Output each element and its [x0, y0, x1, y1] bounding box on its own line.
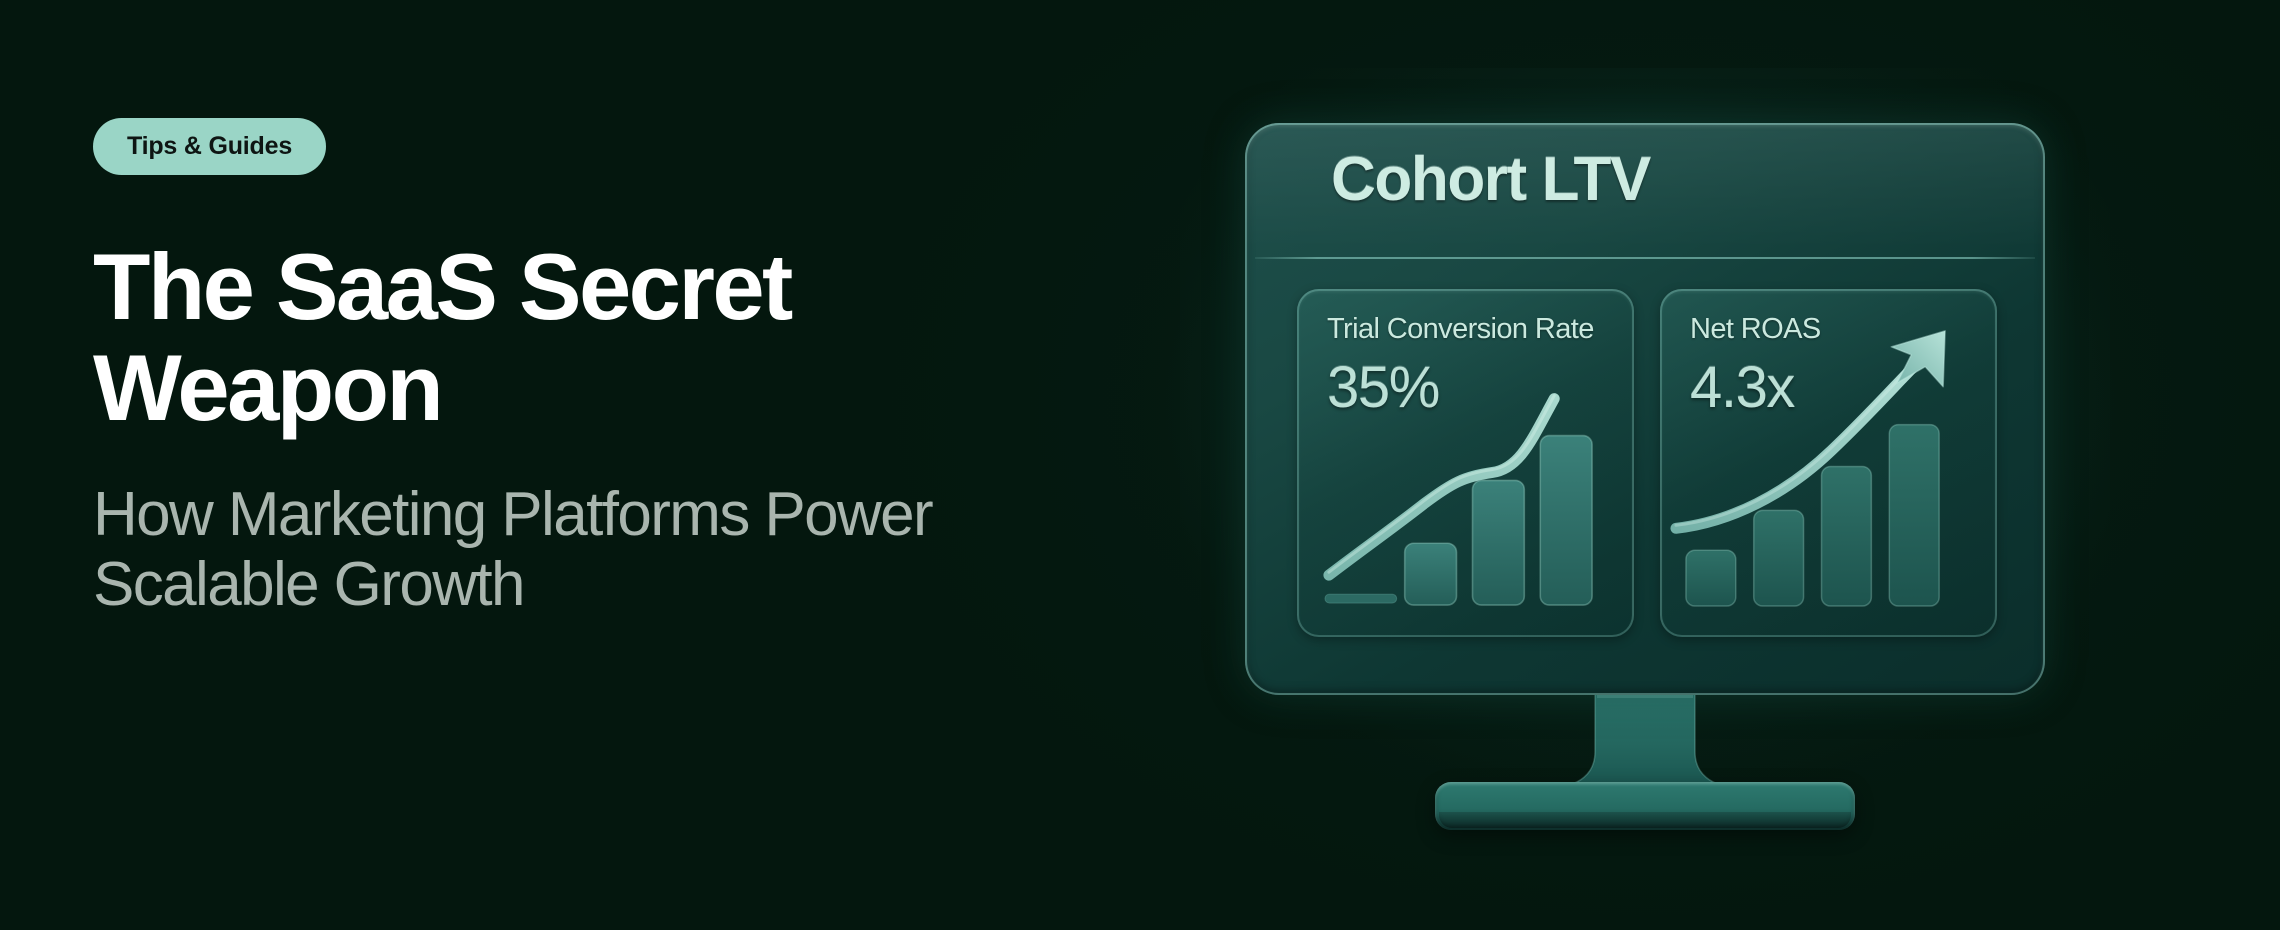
page-subtitle: How Marketing Platforms Power Scalable G…: [93, 438, 973, 620]
dashboard-divider: [1255, 257, 2035, 259]
baseline-tick: [1325, 594, 1397, 603]
trial-conversion-chart: [1297, 289, 1634, 636]
metric-card-list: Trial Conversion Rate 35%: [1297, 289, 1997, 637]
monitor-screen: Cohort LTV Trial Conversion Rate 35%: [1245, 123, 2045, 695]
hero-banner: Tips & Guides The SaaS Secret Weapon How…: [0, 0, 2280, 930]
bar-1: [1686, 550, 1736, 606]
stand-neck-shape: [1525, 690, 1765, 790]
bar-2: [1472, 480, 1524, 605]
metric-card-trial-conversion-rate[interactable]: Trial Conversion Rate 35%: [1297, 289, 1634, 637]
net-roas-chart: [1660, 289, 1997, 636]
bar-3: [1822, 466, 1872, 606]
arrow-head-icon: [1891, 331, 1945, 387]
hero-copy-block: Tips & Guides The SaaS Secret Weapon How…: [93, 118, 1113, 620]
category-badge[interactable]: Tips & Guides: [93, 118, 326, 175]
bar-4: [1889, 425, 1939, 606]
page-title: The SaaS Secret Weapon: [93, 175, 853, 438]
bar-3: [1540, 436, 1592, 605]
bar-1: [1405, 543, 1457, 605]
monitor-illustration: Cohort LTV Trial Conversion Rate 35%: [1240, 118, 2050, 818]
bar-2: [1754, 510, 1804, 606]
monitor-stand-neck: [1525, 690, 1765, 790]
monitor-stand-base: [1435, 782, 1855, 830]
metric-card-net-roas[interactable]: Net ROAS 4.3x: [1660, 289, 1997, 637]
dashboard-title: Cohort LTV: [1331, 149, 1650, 211]
